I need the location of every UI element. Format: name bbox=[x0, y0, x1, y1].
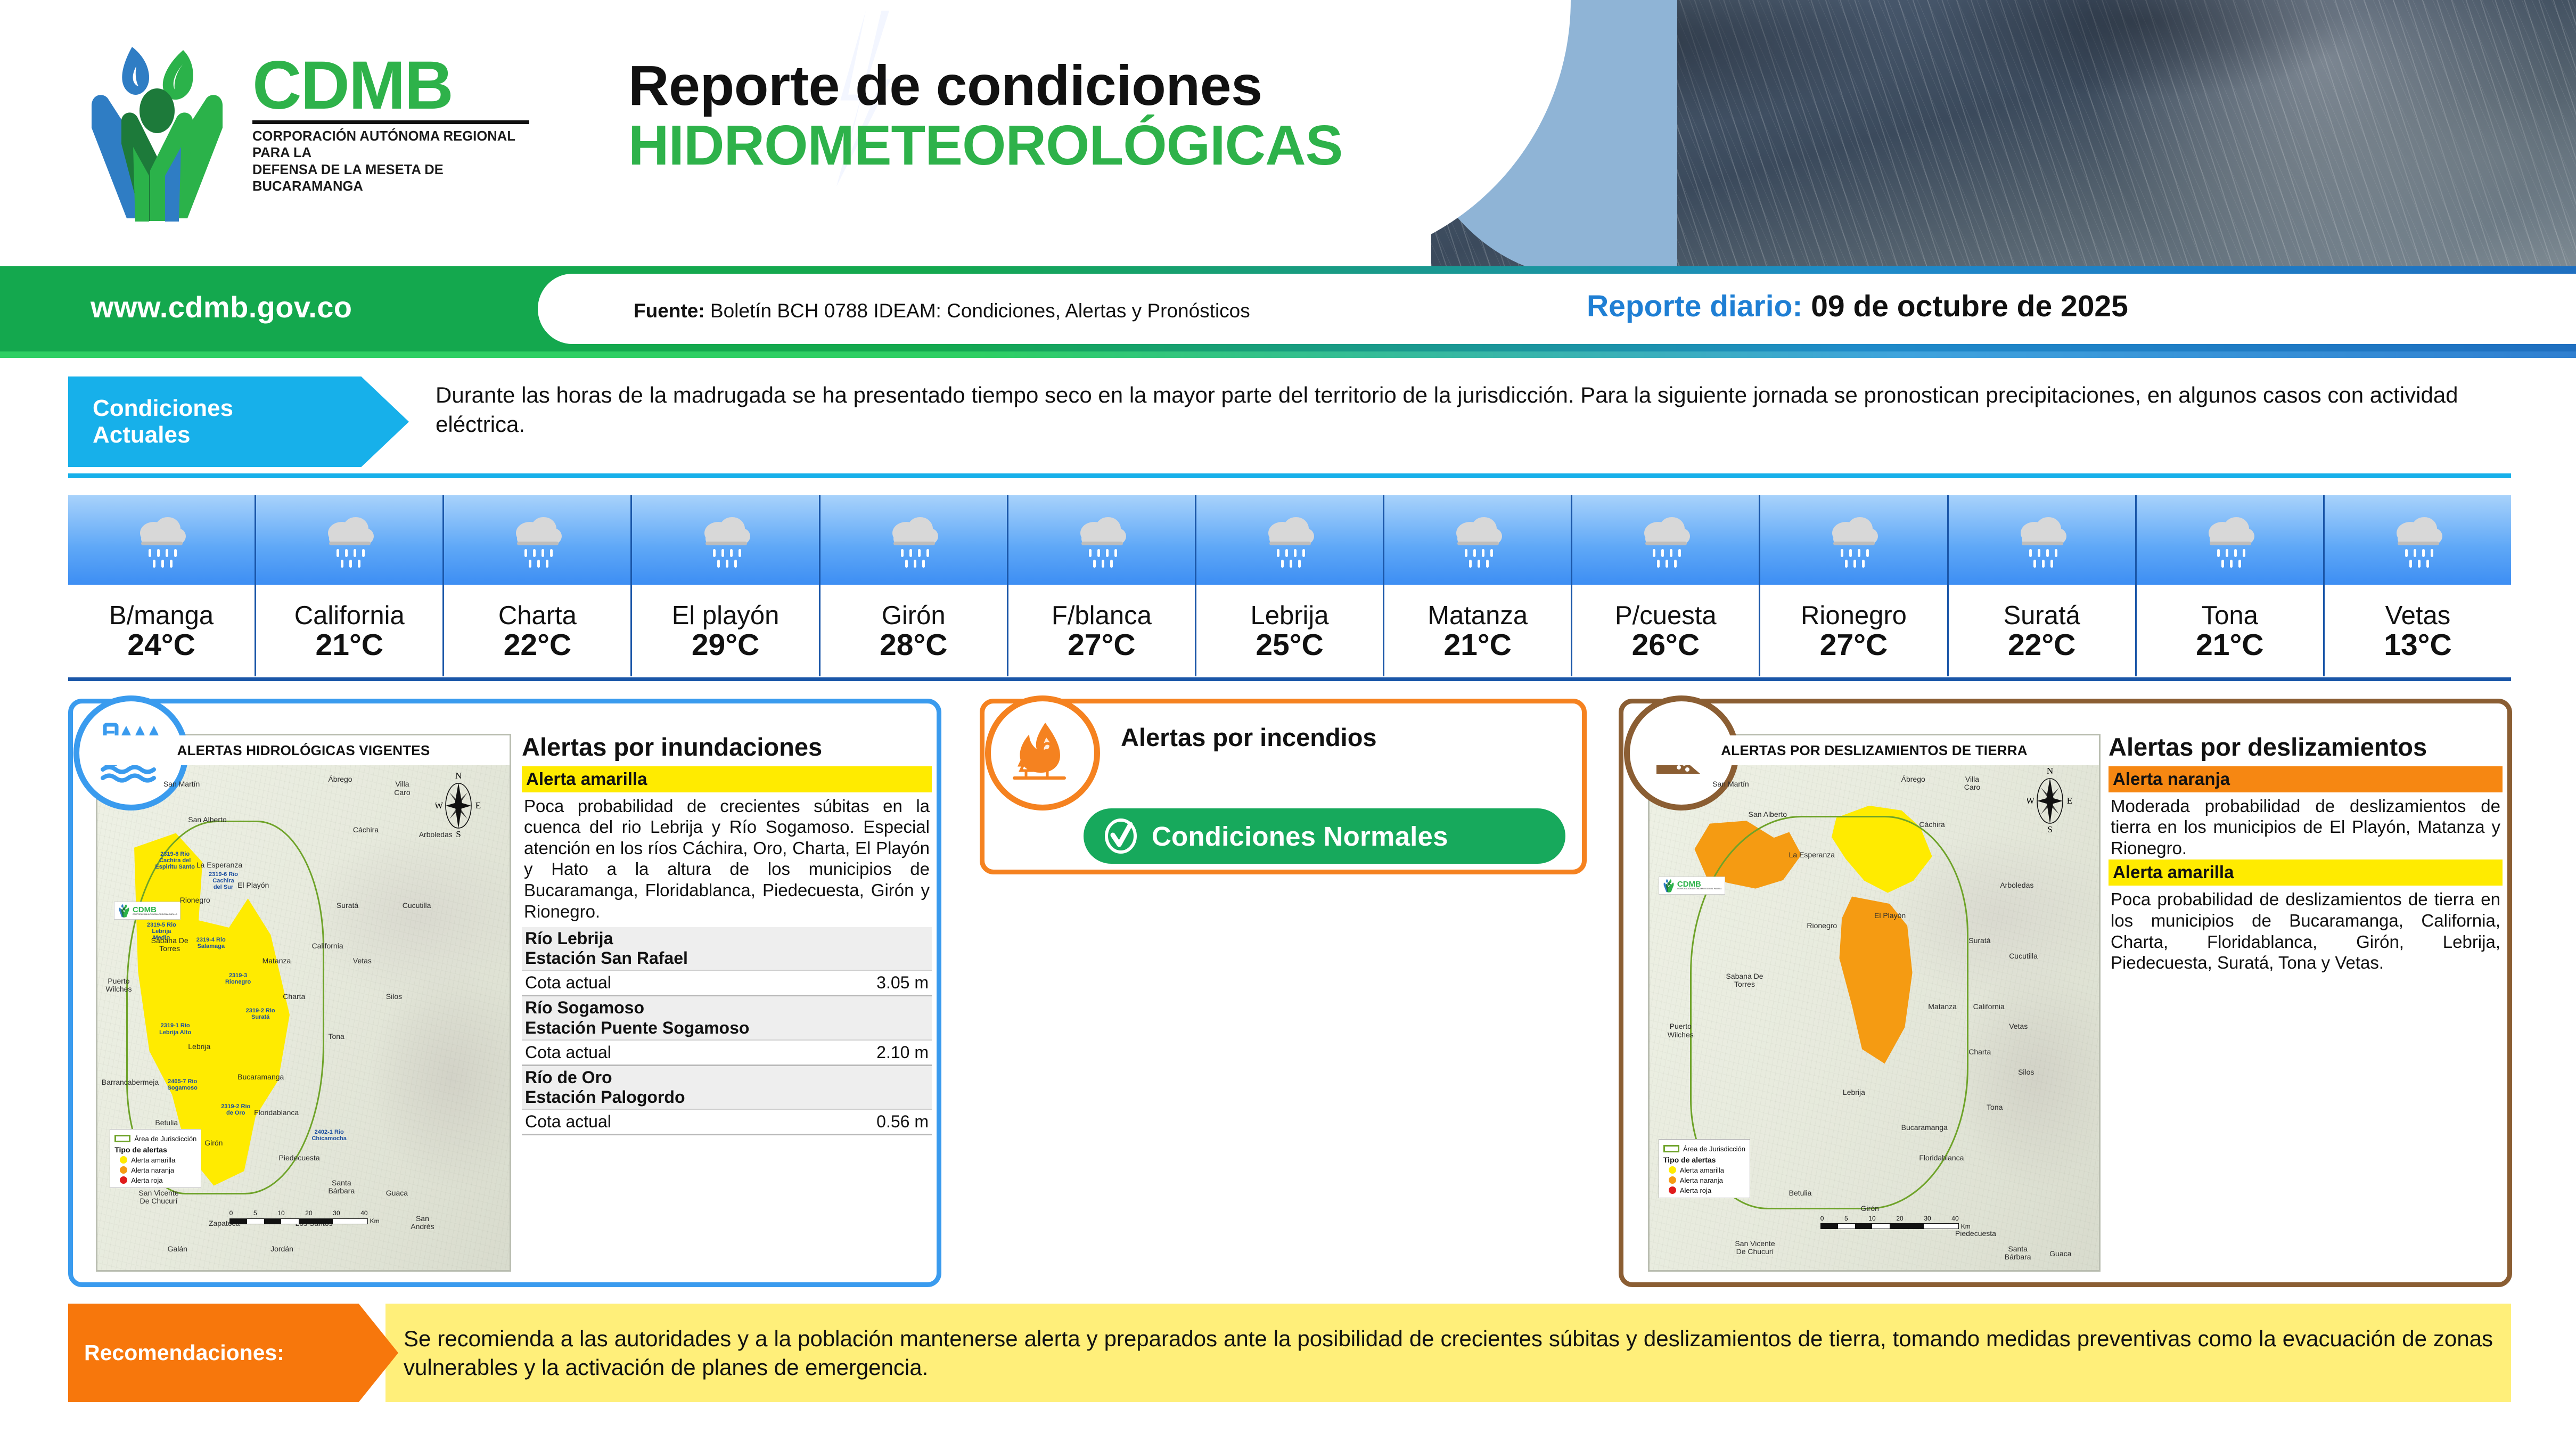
map-label-charta: Charta bbox=[1968, 1048, 1991, 1056]
map-label-piedecuesta: Piedecuesta bbox=[279, 1154, 320, 1162]
weather-cell-body: Vetas13°C bbox=[2325, 585, 2511, 676]
legend-dot-yellow bbox=[1669, 1166, 1676, 1174]
source-label: Fuente: bbox=[634, 300, 705, 322]
weather-city-name: P/cuesta bbox=[1615, 603, 1717, 629]
river-label-lebrija-medio: 2319-5 Rio Lebrija Medio bbox=[147, 922, 176, 941]
cdmb-mini-logo-acronym: CDMB bbox=[133, 906, 177, 914]
title-line-1: Reporte de condiciones bbox=[628, 56, 1342, 116]
forest-fire-icon bbox=[1008, 718, 1077, 788]
map-label-matanza: Matanza bbox=[262, 957, 291, 965]
weather-temperature: 27°C bbox=[1068, 630, 1135, 660]
legend-label-red: Alerta roja bbox=[131, 1176, 162, 1184]
legend-jurisdiction-row: Área de Jurisdicción bbox=[1663, 1145, 1745, 1153]
legend-jurisdiction-row: Área de Jurisdicción bbox=[114, 1135, 196, 1143]
map-label-jordan: Jordán bbox=[270, 1245, 293, 1253]
legend-jurisdiction-label: Área de Jurisdicción bbox=[134, 1135, 196, 1143]
legend-item-orange: Alerta naranja bbox=[1663, 1176, 1745, 1184]
station-1-river: Río Sogamoso bbox=[525, 998, 929, 1018]
weather-icon-wrap bbox=[1760, 495, 1947, 585]
flood-map-cdmb-logo: CDMB CORPORACIÓN AUTÓNOMA REGIONAL PARA … bbox=[114, 902, 181, 920]
map-label-rionegro: Rionegro bbox=[180, 896, 210, 904]
compass-rose-icon: N S W E bbox=[2027, 765, 2073, 834]
map-label-barrancabermeja: Barrancabermeja bbox=[102, 1078, 159, 1086]
scalebar-ticks: 0 5 10 20 30 40 bbox=[229, 1209, 368, 1217]
map-label-california: California bbox=[1973, 1003, 2005, 1011]
cdmb-logo-mark bbox=[69, 43, 245, 224]
weather-temperature: 24°C bbox=[127, 630, 195, 660]
scalebar-tick-3: 20 bbox=[1896, 1215, 1903, 1222]
weather-temperature: 27°C bbox=[1820, 630, 1888, 660]
flood-text-panel: Alertas por inundaciones Alerta amarilla… bbox=[522, 734, 932, 1135]
table-row: Cota actual 2.10 m bbox=[522, 1040, 932, 1066]
weather-icon-wrap bbox=[1196, 495, 1383, 585]
station-0-name: Río Lebrija Estación San Rafael bbox=[522, 927, 932, 970]
river-label-lebrija-alto: 2319-1 Rio Lebrija Alto bbox=[159, 1022, 191, 1035]
weather-cell: Lebrija25°C bbox=[1196, 495, 1384, 676]
weather-cell: Rionegro27°C bbox=[1760, 495, 1948, 676]
landslide-alert-1-level: Alerta amarilla bbox=[2109, 859, 2503, 886]
logo-acronym: CDMB bbox=[252, 56, 535, 115]
weather-city-name: California bbox=[294, 603, 405, 629]
weather-icon-wrap bbox=[444, 495, 630, 585]
rain-cloud-icon bbox=[2388, 509, 2448, 571]
map-label-villa-caro: Villa Caro bbox=[1964, 775, 1980, 791]
station-1-metric: Cota actual bbox=[522, 1040, 773, 1066]
weather-cell: Suratá22°C bbox=[1949, 495, 2137, 676]
weather-city-name: F/blanca bbox=[1052, 603, 1152, 629]
weather-city-name: Girón bbox=[882, 603, 946, 629]
cdmb-mini-logo-mark bbox=[117, 904, 131, 918]
current-conditions-section: Condiciones Actuales Durante las horas d… bbox=[68, 376, 2511, 467]
weather-icon-wrap bbox=[821, 495, 1007, 585]
weather-city-name: Matanza bbox=[1428, 603, 1528, 629]
fire-status-label: Condiciones Normales bbox=[1152, 821, 1448, 852]
landslide-alert-0-text: Moderada probabilidad de deslizamientos … bbox=[2109, 792, 2503, 860]
weather-city-name: Vetas bbox=[2385, 603, 2451, 629]
scalebar-ticks: 0 5 10 20 30 40 bbox=[1820, 1215, 1959, 1222]
weather-city-name: Lebrija bbox=[1250, 603, 1328, 629]
rain-cloud-icon bbox=[1636, 509, 1695, 571]
fire-badge bbox=[985, 695, 1100, 811]
map-label-san-martin: San Martín bbox=[1712, 780, 1749, 788]
map-label-lebrija: Lebrija bbox=[188, 1043, 210, 1051]
map-label-san-vicente: San Vicente De Chucurí bbox=[1735, 1240, 1775, 1256]
table-row: Río Lebrija Estación San Rafael bbox=[522, 927, 932, 970]
alert-panels: ALERTAS HIDROLÓGICAS VIGENTES San Martín… bbox=[0, 692, 2576, 1294]
map-label-silos: Silos bbox=[386, 993, 402, 1001]
map-label-california: California bbox=[311, 942, 343, 950]
weather-icon-wrap bbox=[1008, 495, 1195, 585]
scalebar-bar bbox=[229, 1218, 368, 1224]
recommendations-section: Se recomienda a las autoridades y a la p… bbox=[68, 1304, 2511, 1402]
map-label-silos: Silos bbox=[2018, 1068, 2034, 1076]
landslide-panel-title: Alertas por deslizamientos bbox=[2109, 734, 2503, 761]
map-label-san-alberto: San Alberto bbox=[1749, 811, 1787, 818]
scalebar-tick-3: 20 bbox=[305, 1209, 312, 1217]
station-1-station: Estación Puente Sogamoso bbox=[525, 1018, 929, 1038]
scalebar-tick-0: 0 bbox=[1820, 1215, 1824, 1222]
info-bar-underline bbox=[0, 351, 2576, 358]
weather-city-name: Tona bbox=[2202, 603, 2258, 629]
map-label-betulia: Betulia bbox=[1789, 1189, 1812, 1197]
scalebar-tick-2: 10 bbox=[277, 1209, 284, 1217]
legend-item-red: Alerta roja bbox=[1663, 1186, 1745, 1194]
rain-cloud-icon bbox=[2200, 509, 2260, 571]
weather-temperature: 21°C bbox=[1443, 630, 1511, 660]
map-label-san-andres: San Andrés bbox=[411, 1215, 434, 1231]
map-label-santa-barbara: Santa Bárbara bbox=[2005, 1245, 2031, 1261]
weather-cell-body: Suratá22°C bbox=[1949, 585, 2135, 676]
flood-map-canvas: San Martín Ábrego Villa Caro San Alberto… bbox=[97, 765, 510, 1270]
weather-icon-wrap bbox=[2137, 495, 2323, 585]
weather-cell-body: P/cuesta26°C bbox=[1572, 585, 1759, 676]
scalebar-tick-1: 5 bbox=[1844, 1215, 1848, 1222]
weather-cell: P/cuesta26°C bbox=[1572, 495, 1760, 676]
weather-temperature: 28°C bbox=[880, 630, 947, 660]
table-row: Río Sogamoso Estación Puente Sogamoso bbox=[522, 996, 932, 1040]
map-label-giron: Girón bbox=[204, 1139, 223, 1147]
weather-temperature: 22°C bbox=[2008, 630, 2075, 660]
title-line-2: HIDROMETEOROLÓGICAS bbox=[628, 116, 1342, 175]
weather-icon-wrap bbox=[68, 495, 255, 585]
weather-temperature: 29°C bbox=[692, 630, 759, 660]
weather-cell-body: Rionegro27°C bbox=[1760, 585, 1947, 676]
weather-city-name: Suratá bbox=[2003, 603, 2080, 629]
landslide-map-title: ALERTAS POR DESLIZAMIENTOS DE TIERRA bbox=[1650, 735, 2099, 765]
station-2-metric: Cota actual bbox=[522, 1109, 773, 1135]
svg-text:S: S bbox=[456, 829, 461, 839]
logo-subtitle-line2: DEFENSA DE LA MESETA DE BUCARAMANGA bbox=[252, 162, 535, 195]
legend-label-orange: Alerta naranja bbox=[1680, 1176, 1723, 1184]
legend-label-orange: Alerta naranja bbox=[131, 1166, 174, 1174]
cdmb-mini-logo-mark bbox=[1662, 879, 1676, 893]
logo-divider bbox=[252, 120, 529, 124]
svg-text:E: E bbox=[475, 800, 480, 811]
map-label-tona: Tona bbox=[328, 1033, 344, 1041]
map-label-guaca: Guaca bbox=[2049, 1250, 2071, 1258]
flood-panel-title: Alertas por inundaciones bbox=[522, 734, 932, 761]
weather-icon-wrap bbox=[256, 495, 442, 585]
map-label-san-vicente: San Vicente De Chucurí bbox=[138, 1189, 178, 1205]
weather-cell-body: Girón28°C bbox=[821, 585, 1007, 676]
map-label-bucaramanga: Bucaramanga bbox=[1901, 1124, 1948, 1132]
flood-map-title: ALERTAS HIDROLÓGICAS VIGENTES bbox=[97, 735, 510, 765]
current-conditions-underline bbox=[68, 473, 2511, 478]
legend-dot-orange bbox=[120, 1166, 127, 1174]
report-date-label: Reporte diario: bbox=[1587, 289, 1802, 323]
legend-dot-red bbox=[120, 1176, 127, 1184]
report-date-value: 09 de octubre de 2025 bbox=[1811, 289, 2128, 323]
weather-icon-wrap bbox=[1572, 495, 1759, 585]
landslide-map[interactable]: ALERTAS POR DESLIZAMIENTOS DE TIERRA San… bbox=[1648, 734, 2101, 1272]
legend-item-yellow: Alerta amarilla bbox=[114, 1156, 196, 1164]
table-row: Cota actual 3.05 m bbox=[522, 970, 932, 996]
map-label-cucutilla: Cucutilla bbox=[403, 902, 431, 910]
cdmb-mini-logo-subtitle: CORPORACIÓN AUTÓNOMA REGIONAL PARA LA bbox=[133, 914, 177, 916]
weather-temperature: 22°C bbox=[504, 630, 571, 660]
map-label-rionegro: Rionegro bbox=[1807, 922, 1837, 930]
fire-status-badge: Condiciones Normales bbox=[1084, 808, 1565, 864]
legend-item-red: Alerta roja bbox=[114, 1176, 196, 1184]
map-label-sabana-de-torres: Sabana De Torres bbox=[1726, 972, 1763, 988]
river-label-rio-de-oro: 2319-2 Rio de Oro bbox=[221, 1103, 250, 1116]
recommendations-tag: Recomendaciones: bbox=[68, 1304, 398, 1402]
weather-temperature: 21°C bbox=[2196, 630, 2263, 660]
page-header: CDMB CORPORACIÓN AUTÓNOMA REGIONAL PARA … bbox=[0, 0, 2576, 266]
map-label-bucaramanga: Bucaramanga bbox=[237, 1073, 284, 1081]
map-label-puerto-wilches: Puerto Wilches bbox=[1668, 1022, 1694, 1038]
legend-item-orange: Alerta naranja bbox=[114, 1166, 196, 1174]
map-label-matanza: Matanza bbox=[1928, 1003, 1957, 1011]
svg-text:S: S bbox=[2047, 824, 2052, 834]
weather-cell: B/manga24°C bbox=[68, 495, 256, 676]
site-url-link[interactable]: www.cdmb.gov.co bbox=[91, 290, 352, 324]
flood-alert-level: Alerta amarilla bbox=[522, 766, 932, 792]
rain-cloud-icon bbox=[2012, 509, 2072, 571]
river-label-rionegro: 2319-3 Rionegro bbox=[225, 972, 251, 985]
scalebar-tick-2: 10 bbox=[1868, 1215, 1875, 1222]
weather-cell: Tona21°C bbox=[2137, 495, 2325, 676]
map-label-piedecuesta: Piedecuesta bbox=[1955, 1230, 1996, 1238]
cdmb-logo-text: CDMB CORPORACIÓN AUTÓNOMA REGIONAL PARA … bbox=[252, 56, 535, 210]
weather-city-name: Charta bbox=[498, 603, 577, 629]
rain-cloud-icon bbox=[696, 509, 756, 571]
source-note: Fuente: Boletín BCH 0788 IDEAM: Condicio… bbox=[634, 300, 1250, 322]
landslide-text-panel: Alertas por deslizamientos Alerta naranj… bbox=[2109, 734, 2503, 975]
svg-text:W: W bbox=[2027, 796, 2035, 806]
scalebar-tick-4: 30 bbox=[1924, 1215, 1931, 1222]
map-label-giron: Girón bbox=[1861, 1205, 1879, 1213]
river-label-salamaga: 2319-4 Rio Salamaga bbox=[196, 937, 226, 949]
map-label-lebrija: Lebrija bbox=[1843, 1088, 1865, 1096]
flood-map[interactable]: ALERTAS HIDROLÓGICAS VIGENTES San Martín… bbox=[96, 734, 511, 1272]
weather-cell-body: Lebrija25°C bbox=[1196, 585, 1383, 676]
cdmb-mini-logo-acronym: CDMB bbox=[1677, 880, 1722, 888]
map-label-tona: Tona bbox=[1987, 1103, 2003, 1111]
map-label-abrego: Ábrego bbox=[328, 775, 352, 783]
map-label-vetas: Vetas bbox=[2009, 1022, 2028, 1030]
station-2-name: Río de Oro Estación Palogordo bbox=[522, 1065, 932, 1109]
river-station-table: Río Lebrija Estación San Rafael Cota act… bbox=[522, 927, 932, 1135]
station-2-value: 0.56 m bbox=[773, 1109, 932, 1135]
scalebar-tick-5: 40 bbox=[1951, 1215, 1958, 1222]
scalebar-bar bbox=[1820, 1223, 1959, 1229]
weather-cell-body: Tona21°C bbox=[2137, 585, 2323, 676]
river-label-sogamoso: 2405-7 Rio Sogamoso bbox=[168, 1078, 198, 1091]
weather-cell: Charta22°C bbox=[444, 495, 632, 676]
map-label-galan: Galán bbox=[168, 1245, 187, 1253]
scalebar-tick-4: 30 bbox=[333, 1209, 340, 1217]
weather-strip-underline bbox=[68, 677, 2511, 681]
legend-label-red: Alerta roja bbox=[1680, 1186, 1711, 1194]
scalebar-unit: Km bbox=[1961, 1223, 1971, 1230]
rain-cloud-icon bbox=[1260, 509, 1319, 571]
table-row: Cota actual 0.56 m bbox=[522, 1109, 932, 1135]
compass-rose-icon: N S W E bbox=[436, 770, 481, 839]
station-0-value: 3.05 m bbox=[773, 970, 932, 996]
weather-icon-wrap bbox=[1949, 495, 2135, 585]
rain-cloud-icon bbox=[1824, 509, 1883, 571]
weather-cell: Vetas13°C bbox=[2325, 495, 2511, 676]
station-2-station: Estación Palogordo bbox=[525, 1087, 929, 1107]
rain-cloud-icon bbox=[1072, 509, 1131, 571]
station-1-name: Río Sogamoso Estación Puente Sogamoso bbox=[522, 996, 932, 1040]
cdmb-mini-logo-subtitle: CORPORACIÓN AUTÓNOMA REGIONAL PARA LA bbox=[1677, 888, 1722, 890]
weather-cell: Girón28°C bbox=[821, 495, 1008, 676]
svg-text:N: N bbox=[455, 771, 462, 781]
legend-title: Tipo de alertas bbox=[114, 1145, 196, 1154]
weather-cell: El playón29°C bbox=[632, 495, 820, 676]
map-label-santa-barbara: Santa Bárbara bbox=[328, 1179, 355, 1195]
fire-panel-title: Alertas por incendios bbox=[1121, 724, 1377, 751]
legend-jurisdiction-swatch bbox=[1663, 1145, 1679, 1152]
map-label-betulia: Betulia bbox=[155, 1119, 178, 1127]
legend-label-yellow: Alerta amarilla bbox=[1680, 1166, 1724, 1174]
recommendations-tag-label: Recomendaciones: bbox=[84, 1340, 284, 1365]
recommendations-text: Se recomienda a las autoridades y a la p… bbox=[404, 1324, 2493, 1382]
current-conditions-tag: Condiciones Actuales bbox=[68, 376, 409, 467]
table-row: Río de Oro Estación Palogordo bbox=[522, 1065, 932, 1109]
map-label-arboledas: Arboledas bbox=[2000, 881, 2033, 889]
flood-alert-text: Poca probabilidad de crecientes súbitas … bbox=[522, 792, 932, 923]
landslide-map-scalebar: 0 5 10 20 30 40 Km bbox=[1820, 1215, 1971, 1230]
weather-cell-body: Charta22°C bbox=[444, 585, 630, 676]
weather-city-name: B/manga bbox=[109, 603, 214, 629]
report-date: Reporte diario: 09 de octubre de 2025 bbox=[1587, 289, 2128, 324]
legend-dot-orange bbox=[1669, 1176, 1676, 1184]
legend-jurisdiction-label: Área de Jurisdicción bbox=[1683, 1145, 1745, 1153]
weather-icon-wrap bbox=[1384, 495, 1571, 585]
info-bar: www.cdmb.gov.co Fuente: Boletín BCH 0788… bbox=[0, 266, 2576, 351]
cdmb-logo: CDMB CORPORACIÓN AUTÓNOMA REGIONAL PARA … bbox=[69, 37, 548, 229]
current-conditions-tag-line2: Actuales bbox=[93, 422, 409, 448]
weather-temperature: 21°C bbox=[316, 630, 383, 660]
weather-icon-wrap bbox=[632, 495, 818, 585]
logo-subtitle-line1: CORPORACIÓN AUTÓNOMA REGIONAL PARA LA bbox=[252, 128, 535, 161]
weather-temperature: 13°C bbox=[2384, 630, 2451, 660]
landslide-map-canvas: San Martín Ábrego Villa Caro San Alberto… bbox=[1650, 765, 2099, 1270]
weather-cell: California21°C bbox=[256, 495, 444, 676]
weather-cell-body: Matanza21°C bbox=[1384, 585, 1571, 676]
weather-icon-wrap bbox=[2325, 495, 2511, 585]
legend-label-yellow: Alerta amarilla bbox=[131, 1156, 175, 1164]
scalebar-tick-0: 0 bbox=[229, 1209, 233, 1217]
river-label-surata: 2319-2 Rio Suratá bbox=[246, 1008, 275, 1020]
station-0-river: Río Lebrija bbox=[525, 929, 929, 948]
weather-temperature: 25°C bbox=[1256, 630, 1323, 660]
landslide-map-legend: Área de Jurisdicción Tipo de alertas Ale… bbox=[1659, 1139, 1750, 1198]
map-label-cachira: Cáchira bbox=[1919, 821, 1945, 829]
legend-item-yellow: Alerta amarilla bbox=[1663, 1166, 1745, 1174]
weather-cell: F/blanca27°C bbox=[1008, 495, 1196, 676]
rain-cloud-icon bbox=[884, 509, 944, 571]
landslide-alert-1-text: Poca probabilidad de deslizamientos de t… bbox=[2109, 886, 2503, 974]
current-conditions-text: Durante las horas de la madrugada se ha … bbox=[436, 381, 2507, 463]
map-label-vetas: Vetas bbox=[353, 957, 372, 965]
river-label-cachira-espiritu-santo: 2319-8 Rio Cachira del Espiritu Santo bbox=[155, 851, 195, 870]
rain-cloud-icon bbox=[507, 509, 567, 571]
legend-jurisdiction-swatch bbox=[114, 1135, 130, 1142]
svg-text:E: E bbox=[2067, 796, 2072, 806]
map-label-puerto-wilches: Puerto Wilches bbox=[105, 977, 132, 993]
station-2-river: Río de Oro bbox=[525, 1068, 929, 1087]
scalebar-tick-5: 40 bbox=[360, 1209, 367, 1217]
flood-map-legend: Área de Jurisdicción Tipo de alertas Ale… bbox=[110, 1129, 201, 1188]
scalebar-unit: Km bbox=[370, 1217, 380, 1225]
map-label-la-esperanza: La Esperanza bbox=[196, 861, 242, 869]
map-label-charta: Charta bbox=[283, 993, 305, 1001]
svg-text:W: W bbox=[436, 800, 444, 811]
weather-cell-body: B/manga24°C bbox=[68, 585, 255, 676]
station-0-station: Estación San Rafael bbox=[525, 948, 929, 968]
weather-cell-body: El playón29°C bbox=[632, 585, 818, 676]
weather-city-name: El playón bbox=[672, 603, 780, 629]
scalebar-tick-1: 5 bbox=[253, 1209, 257, 1217]
map-label-cachira: Cáchira bbox=[353, 826, 379, 834]
map-label-cucutilla: Cucutilla bbox=[2009, 952, 2038, 960]
rain-cloud-icon bbox=[1448, 509, 1507, 571]
svg-text:N: N bbox=[2047, 766, 2053, 776]
station-0-metric: Cota actual bbox=[522, 970, 773, 996]
current-conditions-tag-line1: Condiciones bbox=[93, 395, 409, 422]
landslide-alert-0-level: Alerta naranja bbox=[2109, 766, 2503, 792]
map-label-surata: Suratá bbox=[1968, 937, 1990, 945]
flood-map-scalebar: 0 5 10 20 30 40 Km bbox=[229, 1209, 380, 1225]
map-label-guaca: Guaca bbox=[386, 1189, 408, 1197]
station-1-value: 2.10 m bbox=[773, 1040, 932, 1066]
map-label-abrego: Ábrego bbox=[1901, 775, 1925, 783]
check-circle-icon bbox=[1102, 817, 1140, 855]
map-label-el-playon: El Playón bbox=[237, 881, 269, 889]
source-text: Boletín BCH 0788 IDEAM: Condiciones, Ale… bbox=[710, 300, 1250, 322]
legend-dot-red bbox=[1669, 1186, 1676, 1194]
map-label-la-esperanza: La Esperanza bbox=[1789, 851, 1835, 859]
weather-cell: Matanza21°C bbox=[1384, 495, 1572, 676]
river-label-cachira-del-sur: 2319-6 Rio Cachira del Sur bbox=[209, 871, 238, 890]
weather-city-name: Rionegro bbox=[1801, 603, 1907, 629]
weather-temperature: 26°C bbox=[1632, 630, 1700, 660]
map-label-surata: Suratá bbox=[337, 902, 358, 910]
river-label-chicamocha: 2402-1 Rio Chicamocha bbox=[311, 1129, 346, 1142]
weather-strip: B/manga24°CCalifornia21°CCharta22°CEl pl… bbox=[68, 495, 2511, 676]
weather-cell-body: California21°C bbox=[256, 585, 442, 676]
landslide-map-cdmb-logo: CDMB CORPORACIÓN AUTÓNOMA REGIONAL PARA … bbox=[1659, 877, 1725, 895]
rain-cloud-icon bbox=[319, 509, 379, 571]
map-label-san-alberto: San Alberto bbox=[188, 816, 226, 824]
recommendations-body: Se recomienda a las autoridades y a la p… bbox=[385, 1304, 2511, 1402]
map-label-floridablanca: Floridablanca bbox=[254, 1109, 299, 1117]
map-label-san-martin: San Martín bbox=[163, 780, 200, 788]
map-label-floridablanca: Floridablanca bbox=[1919, 1154, 1964, 1162]
page-title: Reporte de condiciones HIDROMETEOROLÓGIC… bbox=[628, 56, 1342, 176]
weather-cell-body: F/blanca27°C bbox=[1008, 585, 1195, 676]
map-label-villa-caro: Villa Caro bbox=[394, 780, 410, 796]
legend-dot-yellow bbox=[120, 1156, 127, 1164]
map-label-el-playon: El Playón bbox=[1874, 912, 1906, 920]
rain-cloud-icon bbox=[132, 509, 191, 571]
legend-title: Tipo de alertas bbox=[1663, 1156, 1745, 1164]
